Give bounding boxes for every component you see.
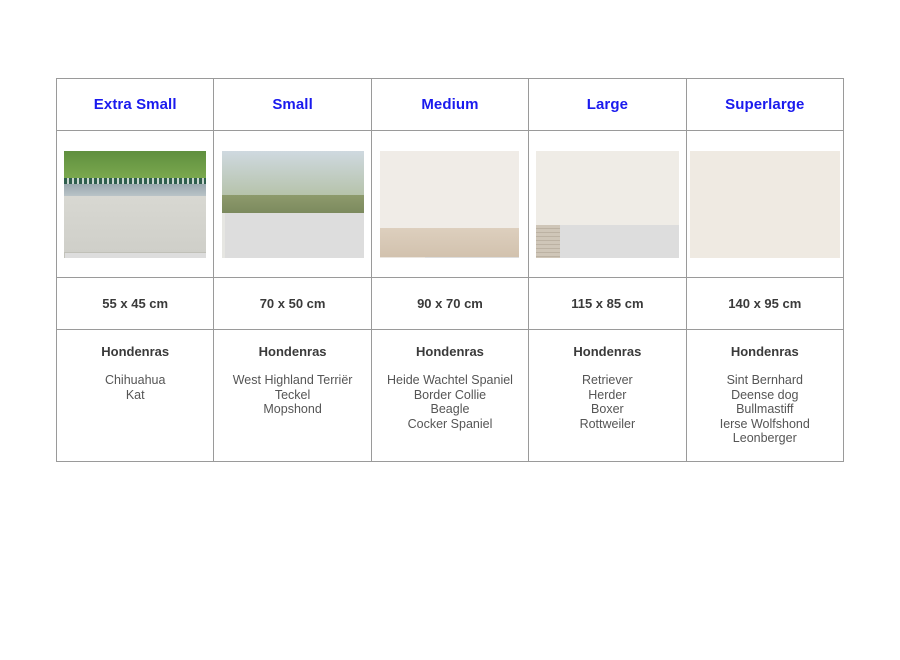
- sky: [222, 151, 364, 196]
- breeds-cell-small: Hondenras West Highland Terriër Teckel M…: [214, 330, 371, 462]
- breed-item: Mopshond: [218, 402, 366, 417]
- breed-list: West Highland Terriër Teckel Mopshond: [218, 373, 366, 417]
- size-header-label: Extra Small: [57, 96, 213, 113]
- wood-floor: [380, 228, 519, 258]
- breed-heading: Hondenras: [376, 344, 524, 359]
- dimensions-label: 55 x 45 cm: [57, 296, 213, 311]
- image-cell-extra-small: [57, 131, 214, 278]
- photo-wrapper: [532, 135, 682, 273]
- dog-bed-photo-medium: [380, 151, 519, 258]
- dimensions-cell-large: 115 x 85 cm: [529, 278, 686, 330]
- breed-list: Retriever Herder Boxer Rottweiler: [533, 373, 681, 431]
- breed-item: Boxer: [533, 402, 681, 417]
- dimensions-label: 115 x 85 cm: [529, 296, 685, 311]
- header-cell-small: Small: [214, 79, 371, 131]
- dog-bed-photo-large: [536, 151, 679, 258]
- tile-seam: [64, 252, 206, 253]
- breed-heading: Hondenras: [218, 344, 366, 359]
- window-mullion: [222, 213, 225, 258]
- size-header-label: Large: [529, 96, 685, 113]
- brick-column: [536, 225, 560, 257]
- breed-item: Chihuahua: [61, 373, 209, 388]
- breed-item: Leonberger: [691, 431, 839, 446]
- breed-item: Beagle: [376, 402, 524, 417]
- hillside: [222, 195, 364, 212]
- dimensions-cell-superlarge: 140 x 95 cm: [686, 278, 843, 330]
- header-cell-medium: Medium: [371, 79, 528, 131]
- image-cell-small: [214, 131, 371, 278]
- header-cell-superlarge: Superlarge: [686, 79, 843, 131]
- breed-item: West Highland Terriër: [218, 373, 366, 388]
- photo-wrapper: [60, 135, 210, 273]
- dog-bed-photo-superlarge: [690, 151, 840, 258]
- breed-list: Heide Wachtel Spaniel Border Collie Beag…: [376, 373, 524, 431]
- dimensions-cell-extra-small: 55 x 45 cm: [57, 278, 214, 330]
- tiled-floor: [64, 196, 206, 252]
- table-breeds-row: Hondenras Chihuahua Kat Hondenras West H…: [57, 330, 844, 462]
- breed-item: Retriever: [533, 373, 681, 388]
- table-dimensions-row: 55 x 45 cm 70 x 50 cm 90 x 70 cm 115 x 8…: [57, 278, 844, 330]
- breed-item: Cocker Spaniel: [376, 417, 524, 432]
- breed-item: Sint Bernhard: [691, 373, 839, 388]
- dimensions-label: 90 x 70 cm: [372, 296, 528, 311]
- garden-lawn: [64, 151, 206, 179]
- breeds-cell-extra-small: Hondenras Chihuahua Kat: [57, 330, 214, 462]
- dog-bed-size-table: Extra Small Small Medium Large Superlarg…: [56, 78, 844, 462]
- breed-list: Sint Bernhard Deense dog Bullmastiff Ier…: [691, 373, 839, 446]
- breed-item: Rottweiler: [533, 417, 681, 432]
- breed-list: Chihuahua Kat: [61, 373, 209, 402]
- photo-wrapper: [375, 135, 525, 273]
- wall: [536, 151, 679, 226]
- breed-item: Deense dog: [691, 388, 839, 403]
- table-image-row: [57, 131, 844, 278]
- header-cell-extra-small: Extra Small: [57, 79, 214, 131]
- dimensions-label: 140 x 95 cm: [687, 296, 843, 311]
- wall: [380, 151, 519, 228]
- dog-bed-photo-extra-small: [64, 151, 206, 258]
- breed-item: Herder: [533, 388, 681, 403]
- breed-item: Bullmastiff: [691, 402, 839, 417]
- dimensions-label: 70 x 50 cm: [214, 296, 370, 311]
- breed-item: Teckel: [218, 388, 366, 403]
- tile-seam: [64, 253, 65, 257]
- breeds-cell-large: Hondenras Retriever Herder Boxer Rottwei…: [529, 330, 686, 462]
- size-header-label: Medium: [372, 96, 528, 113]
- table-header-row: Extra Small Small Medium Large Superlarg…: [57, 79, 844, 131]
- page-canvas: Extra Small Small Medium Large Superlarg…: [0, 0, 900, 660]
- breed-item: Border Collie: [376, 388, 524, 403]
- breed-heading: Hondenras: [691, 344, 839, 359]
- window-glass: [64, 184, 206, 197]
- header-cell-large: Large: [529, 79, 686, 131]
- size-header-label: Small: [214, 96, 370, 113]
- photo-wrapper: [217, 135, 367, 273]
- image-cell-large: [529, 131, 686, 278]
- breeds-cell-superlarge: Hondenras Sint Bernhard Deense dog Bullm…: [686, 330, 843, 462]
- breed-item: Kat: [61, 388, 209, 403]
- image-cell-superlarge: [686, 131, 843, 278]
- breed-heading: Hondenras: [533, 344, 681, 359]
- breed-item: Ierse Wolfshond: [691, 417, 839, 432]
- wall: [690, 151, 840, 258]
- dimensions-cell-small: 70 x 50 cm: [214, 278, 371, 330]
- breeds-cell-medium: Hondenras Heide Wachtel Spaniel Border C…: [371, 330, 528, 462]
- size-header-label: Superlarge: [687, 96, 843, 113]
- breed-heading: Hondenras: [61, 344, 209, 359]
- image-cell-medium: [371, 131, 528, 278]
- dog-bed-photo-small: [222, 151, 364, 258]
- breed-item: Heide Wachtel Spaniel: [376, 373, 524, 388]
- dimensions-cell-medium: 90 x 70 cm: [371, 278, 528, 330]
- photo-wrapper: [690, 135, 840, 273]
